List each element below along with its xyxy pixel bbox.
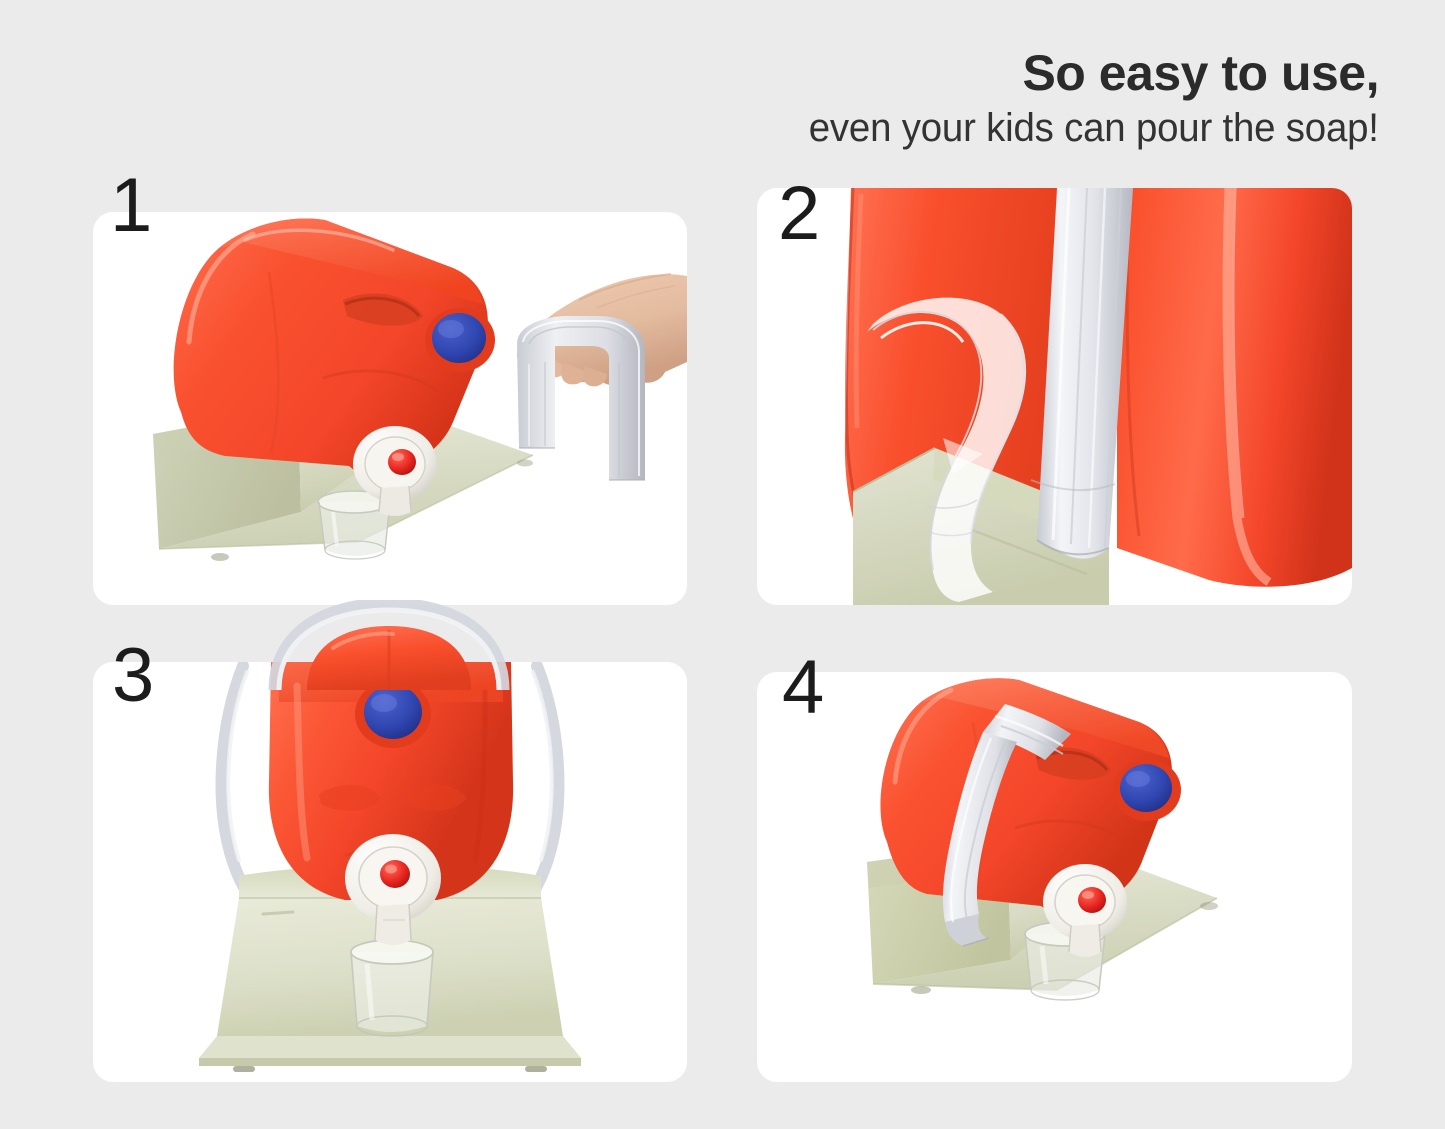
page-title: So easy to use, (1022, 48, 1379, 98)
step-panel-2 (757, 188, 1352, 605)
detergent-jug-closeup-right (1117, 188, 1352, 587)
step-panel-4 (757, 672, 1352, 1082)
step-number-2: 2 (778, 176, 820, 252)
measuring-cup (351, 940, 433, 1036)
step-panel-3 (93, 662, 687, 1082)
u-strap (517, 316, 645, 480)
header: So easy to use, even your kids can pour … (0, 0, 1445, 175)
step-2-illustration (757, 188, 1352, 605)
step-number-1: 1 (110, 168, 152, 244)
page-subtitle: even your kids can pour the soap! (809, 108, 1379, 148)
spout-button (380, 860, 410, 888)
step-panel-1 (93, 212, 687, 605)
spout-button (1078, 887, 1106, 913)
jug-cap (355, 680, 431, 748)
spout-button (388, 449, 416, 475)
jug-cap (1113, 759, 1181, 821)
step-number-4: 4 (782, 650, 824, 726)
jug-cap (425, 308, 495, 372)
step-number-3: 3 (112, 638, 154, 714)
step-4-illustration (757, 672, 1352, 1082)
step-1-illustration (93, 212, 687, 605)
step-3-illustration (93, 662, 687, 1082)
